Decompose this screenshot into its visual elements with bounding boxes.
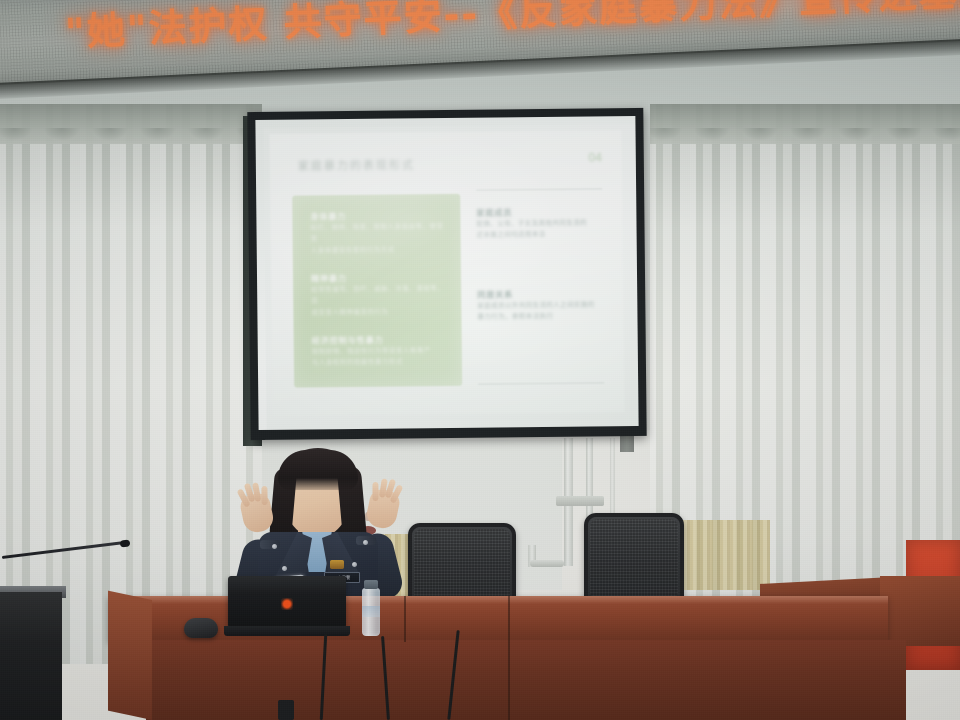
- event-photograph: 家庭暴力的表现形式 04 身体暴力 殴打、捆绑、残害、限制人身自由等，使受害 人…: [0, 0, 960, 720]
- faucet-spout: [530, 560, 564, 567]
- presentation-slide: 家庭暴力的表现形式 04 身体暴力 殴打、捆绑、残害、限制人身自由等，使受害 人…: [270, 130, 625, 416]
- water-bottle-label: [362, 606, 380, 617]
- finger: [261, 486, 267, 505]
- slide-block-line: 经常性谩骂、恐吓、威胁、冷落、漠视等，造: [311, 283, 445, 307]
- rank-insignia: [330, 560, 344, 569]
- pipe-clamp: [556, 496, 604, 506]
- slide-block: 身体暴力 殴打、捆绑、残害、限制人身自由等，使受害 人身体遭受伤害的行为方式: [310, 210, 444, 257]
- slide-block-line: 殴打、捆绑、残害、限制人身自由等，使受害: [310, 221, 444, 245]
- slide-left-panel: 身体暴力 殴打、捆绑、残害、限制人身自由等，使受害 人身体遭受伤害的行为方式 精…: [292, 194, 462, 388]
- laptop-base: [224, 626, 350, 636]
- slide-title: 家庭暴力的表现形式: [298, 156, 415, 173]
- slide-block: 家庭成员 配偶、父母、子女及其他共同生活的 近亲属之间均适用本法: [476, 206, 602, 241]
- slide-page-mark: 04: [588, 150, 602, 164]
- slide-block-line: 人身体遭受伤害的行为方式: [311, 244, 445, 257]
- desk-seam: [508, 596, 510, 720]
- desk-podium: [880, 576, 960, 646]
- curtain-scallop-left: [0, 128, 262, 158]
- water-bottle-cap: [364, 580, 378, 589]
- slide-divider: [476, 188, 602, 190]
- laptop-brand-logo: [281, 598, 293, 610]
- desk-left-return: [108, 591, 152, 720]
- slide-block: 精神暴力 经常性谩骂、恐吓、威胁、冷落、漠视等，造 成受害人精神痛苦的行为: [311, 272, 445, 319]
- shoulder-board-left: [260, 540, 280, 549]
- curtain-left: [0, 104, 262, 664]
- hair-fringe: [278, 450, 358, 490]
- desk-top-highlight: [108, 596, 888, 604]
- av-equipment-rack: [0, 592, 62, 720]
- desk-seam: [404, 596, 406, 642]
- uniform-button: [282, 566, 287, 571]
- slide-block-line: 暴力行为，参照本法执行: [477, 311, 603, 324]
- computer-mouse: [184, 618, 218, 638]
- slide-block: 同居关系 家庭成员以外共同生活的人之间实施的 暴力行为，参照本法执行: [477, 288, 603, 323]
- slide-block-line: 成受害人精神痛苦的行为: [311, 306, 445, 319]
- power-adapter: [278, 700, 294, 720]
- uniform-button: [272, 544, 277, 549]
- uniform-button: [363, 540, 368, 545]
- desk-front-panel: [146, 640, 906, 720]
- slide-block-line: 与人身权利的隐蔽性暴力形式: [312, 356, 446, 369]
- projection-surface: 家庭暴力的表现形式 04 身体暴力 殴打、捆绑、残害、限制人身自由等，使受害 人…: [255, 116, 638, 430]
- uniform-button: [352, 562, 357, 567]
- laptop: [228, 576, 346, 628]
- projection-screen: 家庭暴力的表现形式 04 身体暴力 殴打、捆绑、残害、限制人身自由等，使受害 人…: [247, 108, 646, 440]
- slide-right-panel: 家庭成员 配偶、父母、子女及其他共同生活的 近亲属之间均适用本法 同居关系 家庭…: [476, 192, 604, 385]
- office-chair-right: [584, 513, 684, 605]
- hand-right: [364, 487, 401, 530]
- slide-block-line: 近亲属之间均适用本法: [477, 229, 603, 242]
- curtain-scallop-right: [650, 128, 960, 158]
- finger: [372, 482, 378, 501]
- slide-block: 经济控制与性暴力 限制财物、强迫性行为等侵害人格尊严 与人身权利的隐蔽性暴力形式: [312, 334, 446, 369]
